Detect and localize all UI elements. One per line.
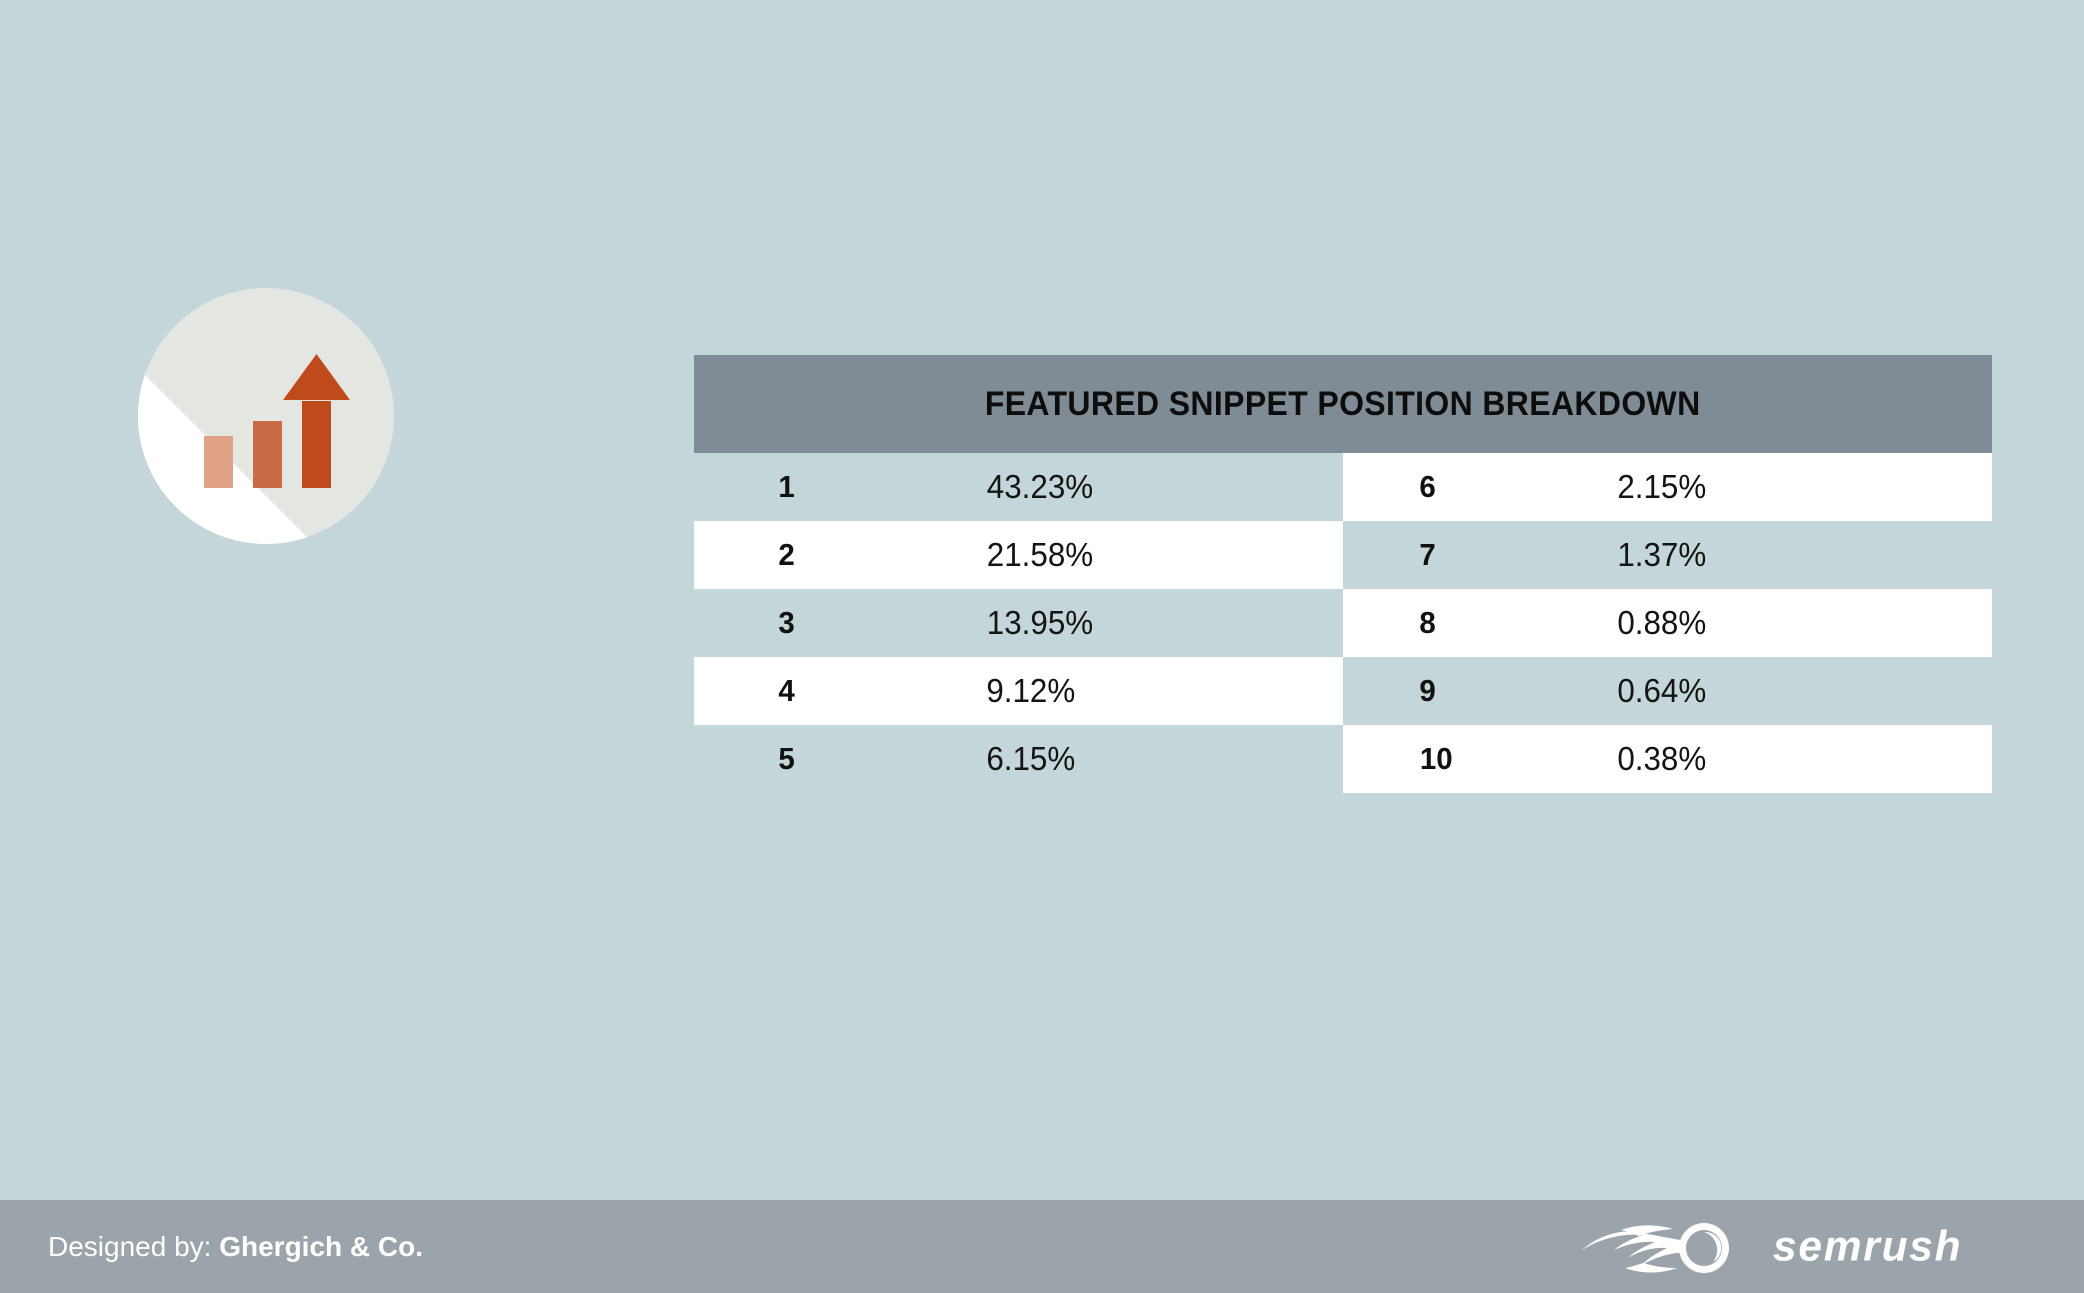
semrush-flame-comet-logo <box>1581 1218 1751 1276</box>
position-label: 5 <box>778 741 794 777</box>
semrush-wordmark: semrush <box>1773 1224 2038 1270</box>
percent-value: 21.58% <box>987 536 1093 574</box>
position-label: 2 <box>778 537 794 573</box>
table-row: 1 43.23% <box>694 453 1343 521</box>
table-column-right: 6 2.15% 7 1.37% 8 0.88% 9 0.64% 10 0.3 <box>1343 453 1992 793</box>
position-label: 10 <box>1420 741 1453 777</box>
icon-bar-3 <box>302 401 331 488</box>
semrush-wordmark-text: semrush <box>1773 1224 1962 1269</box>
footer-bar: Designed by: Ghergich & Co. semrush <box>0 1200 2084 1293</box>
percent-value: 0.64% <box>1617 672 1706 710</box>
table-row: 9 0.64% <box>1343 657 1992 725</box>
position-label: 4 <box>778 673 794 709</box>
position-label: 6 <box>1419 469 1435 505</box>
table-row: 10 0.38% <box>1343 725 1992 793</box>
percent-value: 6.15% <box>986 740 1075 778</box>
credit-name: Ghergich & Co. <box>219 1231 423 1262</box>
position-label: 9 <box>1419 673 1435 709</box>
table-row: 6 2.15% <box>1343 453 1992 521</box>
position-label: 8 <box>1419 605 1435 641</box>
percent-value: 13.95% <box>987 604 1093 642</box>
position-label: 3 <box>778 605 794 641</box>
table-row: 8 0.88% <box>1343 589 1992 657</box>
table-column-left: 1 43.23% 2 21.58% 3 13.95% 4 9.12% 5 6 <box>694 453 1343 793</box>
table-body: 1 43.23% 2 21.58% 3 13.95% 4 9.12% 5 6 <box>694 453 1992 793</box>
table-row: 4 9.12% <box>694 657 1343 725</box>
designed-by-credit: Designed by: Ghergich & Co. <box>48 1231 423 1263</box>
infographic-canvas: FEATURED SNIPPET POSITION BREAKDOWN 1 43… <box>0 0 2084 1293</box>
percent-value: 9.12% <box>986 672 1075 710</box>
percent-value: 43.23% <box>987 468 1093 506</box>
page-title: FEATURED SNIPPET POSITION BREAKDOWN <box>985 385 1701 424</box>
table-row: 5 6.15% <box>694 725 1343 793</box>
table-row: 2 21.58% <box>694 521 1343 589</box>
featured-snippet-table: FEATURED SNIPPET POSITION BREAKDOWN 1 43… <box>694 355 1992 793</box>
position-label: 1 <box>778 469 794 505</box>
percent-value: 0.38% <box>1617 740 1706 778</box>
table-row: 7 1.37% <box>1343 521 1992 589</box>
table-header-bar: FEATURED SNIPPET POSITION BREAKDOWN <box>694 355 1992 453</box>
percent-value: 1.37% <box>1617 536 1706 574</box>
credit-prefix: Designed by: <box>48 1231 211 1262</box>
percent-value: 2.15% <box>1617 468 1706 506</box>
semrush-logo: semrush <box>1581 1218 2038 1276</box>
growth-bar-chart-circle-icon <box>138 288 394 544</box>
position-label: 7 <box>1419 537 1435 573</box>
icon-bar-1 <box>204 436 233 488</box>
icon-bar-2 <box>253 421 282 488</box>
percent-value: 0.88% <box>1617 604 1706 642</box>
table-row: 3 13.95% <box>694 589 1343 657</box>
